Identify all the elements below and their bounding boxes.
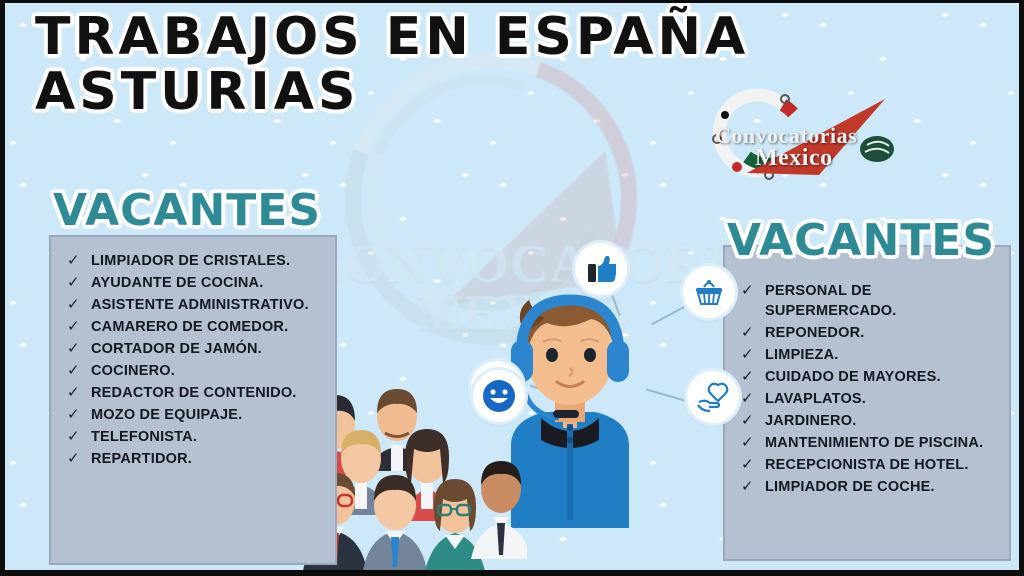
list-item-label: REPARTIDOR. xyxy=(91,451,192,467)
list-item: ✓AYUDANTE DE COCINA. xyxy=(65,273,327,293)
convocatorias-mexico-logo: Convocatorias Mexico xyxy=(697,79,915,187)
left-vacancies-list: ✓LIMPIADOR DE CRISTALES. ✓AYUDANTE DE CO… xyxy=(51,237,335,469)
shopping-basket-icon xyxy=(694,277,724,307)
list-item: ✓PERSONAL DE SUPERMERCADO. xyxy=(739,281,1001,321)
smiley-face-icon xyxy=(482,379,516,413)
check-icon: ✓ xyxy=(741,411,754,431)
logo-text-line-2: Mexico xyxy=(755,145,833,172)
check-icon: ✓ xyxy=(67,317,80,337)
list-item-label: PERSONAL DE SUPERMERCADO. xyxy=(765,283,897,319)
check-icon: ✓ xyxy=(741,477,754,497)
list-item: ✓LAVAPLATOS. xyxy=(739,389,1001,409)
right-vacantes-heading: VACANTES xyxy=(727,215,995,266)
hand-heart-icon xyxy=(697,381,729,413)
thumbs-up-badge xyxy=(575,243,627,295)
list-item: ✓REPARTIDOR. xyxy=(65,449,327,469)
list-item-label: LAVAPLATOS. xyxy=(765,391,866,407)
list-item: ✓CORTADOR DE JAMÓN. xyxy=(65,339,327,359)
check-icon: ✓ xyxy=(67,383,80,403)
list-item-label: COCINERO. xyxy=(91,363,175,379)
poster: CONVOCATORIAS MEXICO TRABAJOS EN ESPAÑA … xyxy=(0,0,1024,576)
list-item-label: CUIDADO DE MAYORES. xyxy=(765,369,941,385)
list-item: ✓LIMPIEZA. xyxy=(739,345,1001,365)
check-icon: ✓ xyxy=(741,345,754,365)
thumbs-up-icon xyxy=(586,254,616,284)
right-vacancies-list: ✓PERSONAL DE SUPERMERCADO. ✓REPONEDOR. ✓… xyxy=(725,247,1009,497)
shopping-basket-badge xyxy=(683,266,735,318)
check-icon: ✓ xyxy=(741,433,754,453)
check-icon: ✓ xyxy=(67,295,80,315)
list-item-label: TELEFONISTA. xyxy=(91,429,197,445)
smiley-face-badge xyxy=(473,370,525,422)
check-icon: ✓ xyxy=(741,455,754,475)
left-vacantes-heading: VACANTES xyxy=(53,185,321,236)
list-item-label: JARDINERO. xyxy=(765,413,856,429)
list-item-label: MOZO DE EQUIPAJE. xyxy=(91,407,242,423)
list-item: ✓LIMPIADOR DE COCHE. xyxy=(739,477,1001,497)
check-icon: ✓ xyxy=(67,251,80,271)
poster-canvas: CONVOCATORIAS MEXICO TRABAJOS EN ESPAÑA … xyxy=(5,3,1019,570)
list-item-label: MANTENIMIENTO DE PISCINA. xyxy=(765,435,983,451)
list-item: ✓MOZO DE EQUIPAJE. xyxy=(65,405,327,425)
check-icon: ✓ xyxy=(67,405,80,425)
check-icon: ✓ xyxy=(741,281,754,301)
list-item-label: AYUDANTE DE COCINA. xyxy=(91,275,263,291)
list-item: ✓REDACTOR DE CONTENIDO. xyxy=(65,383,327,403)
list-item: ✓CUIDADO DE MAYORES. xyxy=(739,367,1001,387)
check-icon: ✓ xyxy=(67,339,80,359)
list-item-label: CORTADOR DE JAMÓN. xyxy=(91,341,262,357)
list-item-label: ASISTENTE ADMINISTRATIVO. xyxy=(91,297,309,313)
list-item: ✓COCINERO. xyxy=(65,361,327,381)
check-icon: ✓ xyxy=(67,273,80,293)
list-item-label: LIMPIEZA. xyxy=(765,347,839,363)
left-vacancies-panel: ✓LIMPIADOR DE CRISTALES. ✓AYUDANTE DE CO… xyxy=(49,235,337,565)
list-item: ✓LIMPIADOR DE CRISTALES. xyxy=(65,251,327,271)
list-item-label: REPONEDOR. xyxy=(765,325,865,341)
list-item: ✓MANTENIMIENTO DE PISCINA. xyxy=(739,433,1001,453)
title-line-1: TRABAJOS EN ESPAÑA xyxy=(35,11,865,64)
list-item-label: LIMPIADOR DE CRISTALES. xyxy=(91,253,290,269)
list-item: ✓ASISTENTE ADMINISTRATIVO. xyxy=(65,295,327,315)
list-item-label: CAMARERO DE COMEDOR. xyxy=(91,319,288,335)
list-item-label: REDACTOR DE CONTENIDO. xyxy=(91,385,297,401)
list-item: ✓TELEFONISTA. xyxy=(65,427,327,447)
check-icon: ✓ xyxy=(67,449,80,469)
hand-heart-badge xyxy=(687,371,739,423)
list-item: ✓CAMARERO DE COMEDOR. xyxy=(65,317,327,337)
check-icon: ✓ xyxy=(741,323,754,343)
list-item-label: RECEPCIONISTA DE HOTEL. xyxy=(765,457,969,473)
check-icon: ✓ xyxy=(67,427,80,447)
right-vacancies-panel: ✓PERSONAL DE SUPERMERCADO. ✓REPONEDOR. ✓… xyxy=(723,245,1011,561)
check-icon: ✓ xyxy=(741,367,754,387)
list-item: ✓RECEPCIONISTA DE HOTEL. xyxy=(739,455,1001,475)
list-item: ✓JARDINERO. xyxy=(739,411,1001,431)
check-icon: ✓ xyxy=(741,389,754,409)
list-item-label: LIMPIADOR DE COCHE. xyxy=(765,479,935,495)
check-icon: ✓ xyxy=(67,361,80,381)
list-item: ✓REPONEDOR. xyxy=(739,323,1001,343)
